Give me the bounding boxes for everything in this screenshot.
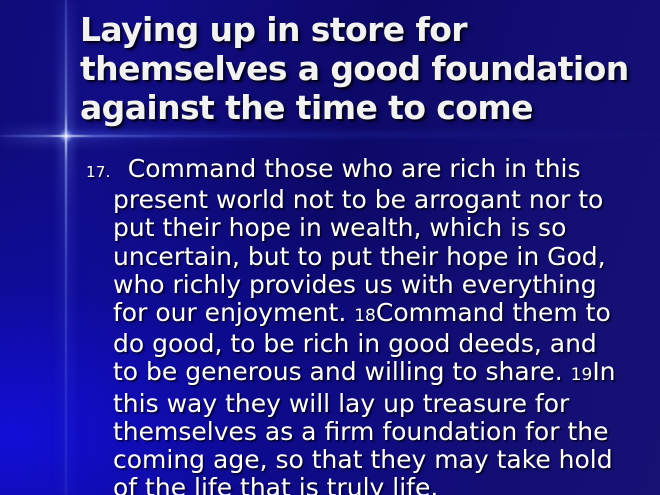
crosshair-vertical-line-icon bbox=[65, 0, 67, 495]
presentation-slide: Laying up in store for themselves a good… bbox=[0, 0, 660, 495]
verse-number-18: 18 bbox=[354, 306, 376, 326]
crosshair-center-glow-icon bbox=[59, 129, 73, 143]
crosshair-horizontal-line-icon bbox=[0, 135, 660, 137]
scripture-paragraph: 17.Command those who are rich in this pr… bbox=[86, 155, 621, 495]
verse-lead-number: 17. bbox=[86, 163, 111, 181]
verse-number-19: 19 bbox=[571, 365, 593, 385]
crosshair-horizontal-glow bbox=[0, 128, 420, 144]
crosshair-vertical-glow bbox=[58, 0, 74, 495]
slide-body: 17.Command those who are rich in this pr… bbox=[86, 155, 621, 495]
title-underline-band bbox=[66, 131, 660, 138]
slide-title: Laying up in store for themselves a good… bbox=[80, 10, 655, 127]
